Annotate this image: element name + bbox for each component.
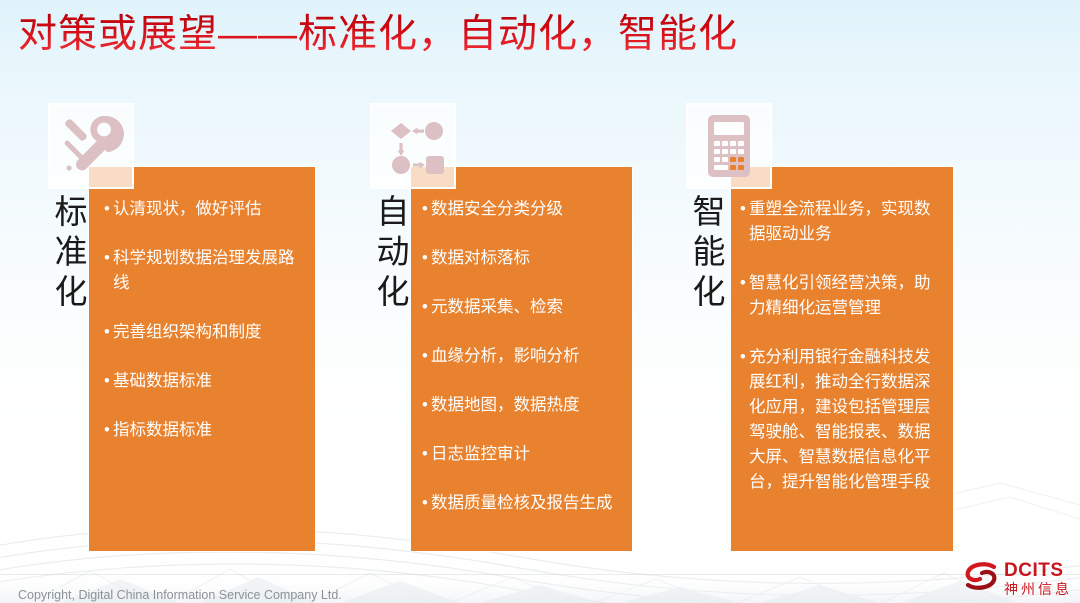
bullet-dot: • — [104, 418, 113, 443]
footer-divider — [0, 574, 1080, 575]
logo-cn-text: 神州信息 — [1004, 582, 1072, 596]
bullet-text: 数据质量检核及报告生成 — [431, 491, 622, 516]
bullet-dot: • — [422, 442, 431, 467]
calculator-icon — [686, 103, 772, 189]
label-char: 准 — [52, 232, 90, 272]
bullet-dot: • — [740, 271, 749, 321]
bullet-text: 元数据采集、检索 — [431, 295, 622, 320]
bullet-item: • 重塑全流程业务，实现数据驱动业务 — [740, 197, 946, 247]
flowchart-icon — [370, 103, 456, 189]
presentation-slide: 对策或展望——标准化，自动化，智能化 标 准 化 — [0, 0, 1080, 603]
bullet-dot: • — [104, 197, 113, 222]
bullet-dot: • — [740, 197, 749, 247]
label-char: 动 — [374, 232, 412, 272]
label-char: 智 — [690, 192, 728, 232]
bullet-text: 数据对标落标 — [431, 246, 622, 271]
bullet-list-automation: • 数据安全分类分级 • 数据对标落标 • 元数据采集、检索 • 血缘分析，影响… — [422, 197, 622, 516]
bullet-text: 数据安全分类分级 — [431, 197, 622, 222]
dcits-logo: DCITS 神州信息 — [964, 559, 1072, 597]
column-label-automation: 自 动 化 — [374, 192, 412, 312]
bullet-item: • 科学规划数据治理发展路线 — [104, 246, 304, 296]
bullet-item: • 智慧化引领经营决策，助力精细化运营管理 — [740, 271, 946, 321]
bullet-dot: • — [422, 393, 431, 418]
logo-en-text: DCITS — [1004, 561, 1072, 580]
bullet-item: • 基础数据标准 — [104, 369, 304, 394]
bullet-dot: • — [104, 320, 113, 345]
bullet-dot: • — [740, 345, 749, 495]
bullet-item: • 认清现状，做好评估 — [104, 197, 304, 222]
bullet-dot: • — [104, 369, 113, 394]
bullet-text: 完善组织架构和制度 — [113, 320, 304, 345]
bullet-text: 充分利用银行金融科技发展红利，推动全行数据深化应用，建设包括管理层驾驶舱、智能报… — [749, 345, 946, 495]
bullet-item: • 充分利用银行金融科技发展红利，推动全行数据深化应用，建设包括管理层驾驶舱、智… — [740, 345, 946, 495]
bullet-item: • 完善组织架构和制度 — [104, 320, 304, 345]
bullet-list-intelligence: • 重塑全流程业务，实现数据驱动业务 • 智慧化引领经营决策，助力精细化运营管理… — [740, 197, 946, 495]
bullet-item: • 日志监控审计 — [422, 442, 622, 467]
bullet-item: • 数据地图，数据热度 — [422, 393, 622, 418]
bullet-item: • 数据质量检核及报告生成 — [422, 491, 622, 516]
bullet-item: • 血缘分析，影响分析 — [422, 344, 622, 369]
label-char: 化 — [690, 272, 728, 312]
label-char: 能 — [690, 232, 728, 272]
label-char: 化 — [374, 272, 412, 312]
bullet-dot: • — [104, 246, 113, 296]
copyright-text: Copyright, Digital China Information Ser… — [18, 588, 342, 602]
slide-title: 对策或展望——标准化，自动化，智能化 — [18, 8, 738, 62]
bullet-text: 科学规划数据治理发展路线 — [113, 246, 304, 296]
dcits-swoosh-logo-icon — [964, 561, 998, 596]
bullet-item: • 数据对标落标 — [422, 246, 622, 271]
label-char: 自 — [374, 192, 412, 232]
bullet-dot: • — [422, 197, 431, 222]
bullet-text: 重塑全流程业务，实现数据驱动业务 — [749, 197, 946, 247]
bullet-text: 数据地图，数据热度 — [431, 393, 622, 418]
bullet-text: 日志监控审计 — [431, 442, 622, 467]
bullet-dot: • — [422, 246, 431, 271]
label-char: 标 — [52, 192, 90, 232]
bullet-list-standardization: • 认清现状，做好评估 • 科学规划数据治理发展路线 • 完善组织架构和制度 •… — [104, 197, 304, 443]
bullet-text: 基础数据标准 — [113, 369, 304, 394]
logo-wordmark: DCITS 神州信息 — [1004, 561, 1072, 596]
label-char: 化 — [52, 272, 90, 312]
bullet-dot: • — [422, 295, 431, 320]
bullet-text: 指标数据标准 — [113, 418, 304, 443]
column-label-intelligence: 智 能 化 — [690, 192, 728, 312]
wrench-screwdriver-icon — [48, 103, 134, 189]
bullet-dot: • — [422, 344, 431, 369]
bullet-text: 智慧化引领经营决策，助力精细化运营管理 — [749, 271, 946, 321]
bullet-text: 认清现状，做好评估 — [113, 197, 304, 222]
bullet-item: • 元数据采集、检索 — [422, 295, 622, 320]
bullet-text: 血缘分析，影响分析 — [431, 344, 622, 369]
bullet-item: • 数据安全分类分级 — [422, 197, 622, 222]
bullet-dot: • — [422, 491, 431, 516]
column-label-standardization: 标 准 化 — [52, 192, 90, 312]
bullet-item: • 指标数据标准 — [104, 418, 304, 443]
